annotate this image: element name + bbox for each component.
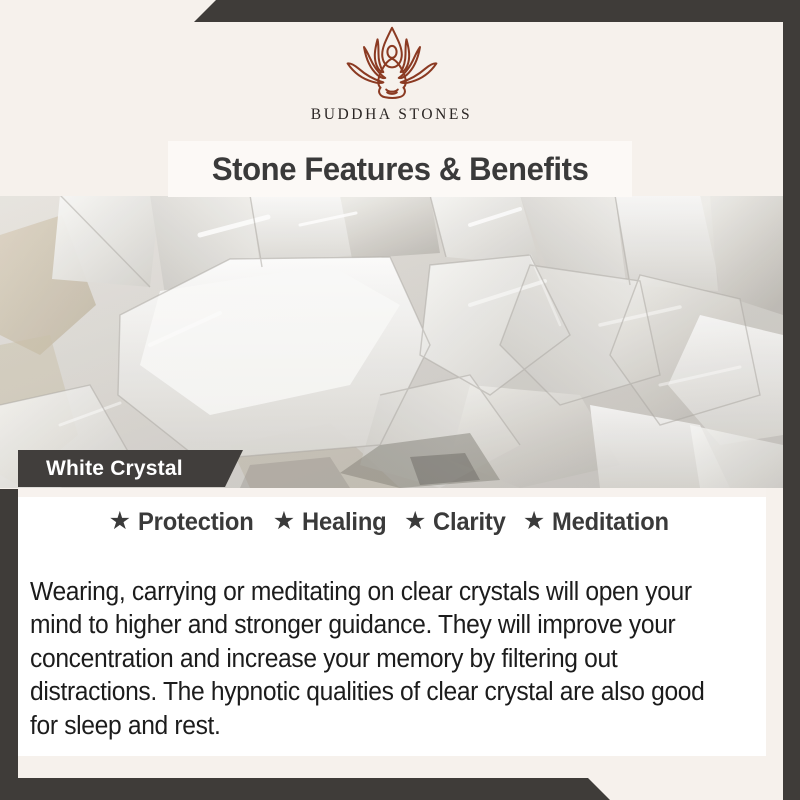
brand-name: BUDDHA STONES — [311, 106, 472, 124]
brand-logo-block: BUDDHA STONES — [0, 22, 783, 124]
star-icon: ★ — [404, 509, 426, 534]
benefit-item-protection: ★ Protection — [109, 508, 260, 537]
benefit-item-healing: ★ Healing — [273, 508, 391, 537]
benefits-row: ★ Protection ★ Healing ★ Clarity ★ Medit… — [18, 508, 766, 537]
page-title: Stone Features & Benefits — [168, 141, 632, 197]
benefit-label: Clarity — [433, 508, 506, 537]
content-top-divider — [18, 488, 766, 497]
benefit-label: Healing — [302, 508, 386, 537]
benefit-item-meditation: ★ Meditation — [523, 508, 675, 537]
benefit-item-clarity: ★ Clarity — [404, 508, 510, 537]
page-title-text: Stone Features & Benefits — [212, 151, 589, 188]
benefit-label: Meditation — [552, 508, 669, 537]
star-icon: ★ — [523, 509, 545, 534]
stone-name-text: White Crystal — [46, 457, 183, 481]
benefit-label: Protection — [138, 508, 254, 537]
frame-right-accent — [783, 0, 800, 800]
frame-left-accent — [0, 489, 18, 800]
star-icon: ★ — [273, 509, 295, 534]
stone-benefits-poster: BUDDHA STONES — [0, 0, 800, 800]
description-text: Wearing, carrying or meditating on clear… — [30, 576, 734, 744]
content-card: ★ Protection ★ Healing ★ Clarity ★ Medit… — [18, 488, 766, 756]
stone-name-badge: White Crystal — [18, 450, 243, 487]
stone-photo — [0, 195, 783, 488]
lotus-meditation-figure-icon — [338, 22, 446, 104]
star-icon: ★ — [109, 509, 131, 534]
